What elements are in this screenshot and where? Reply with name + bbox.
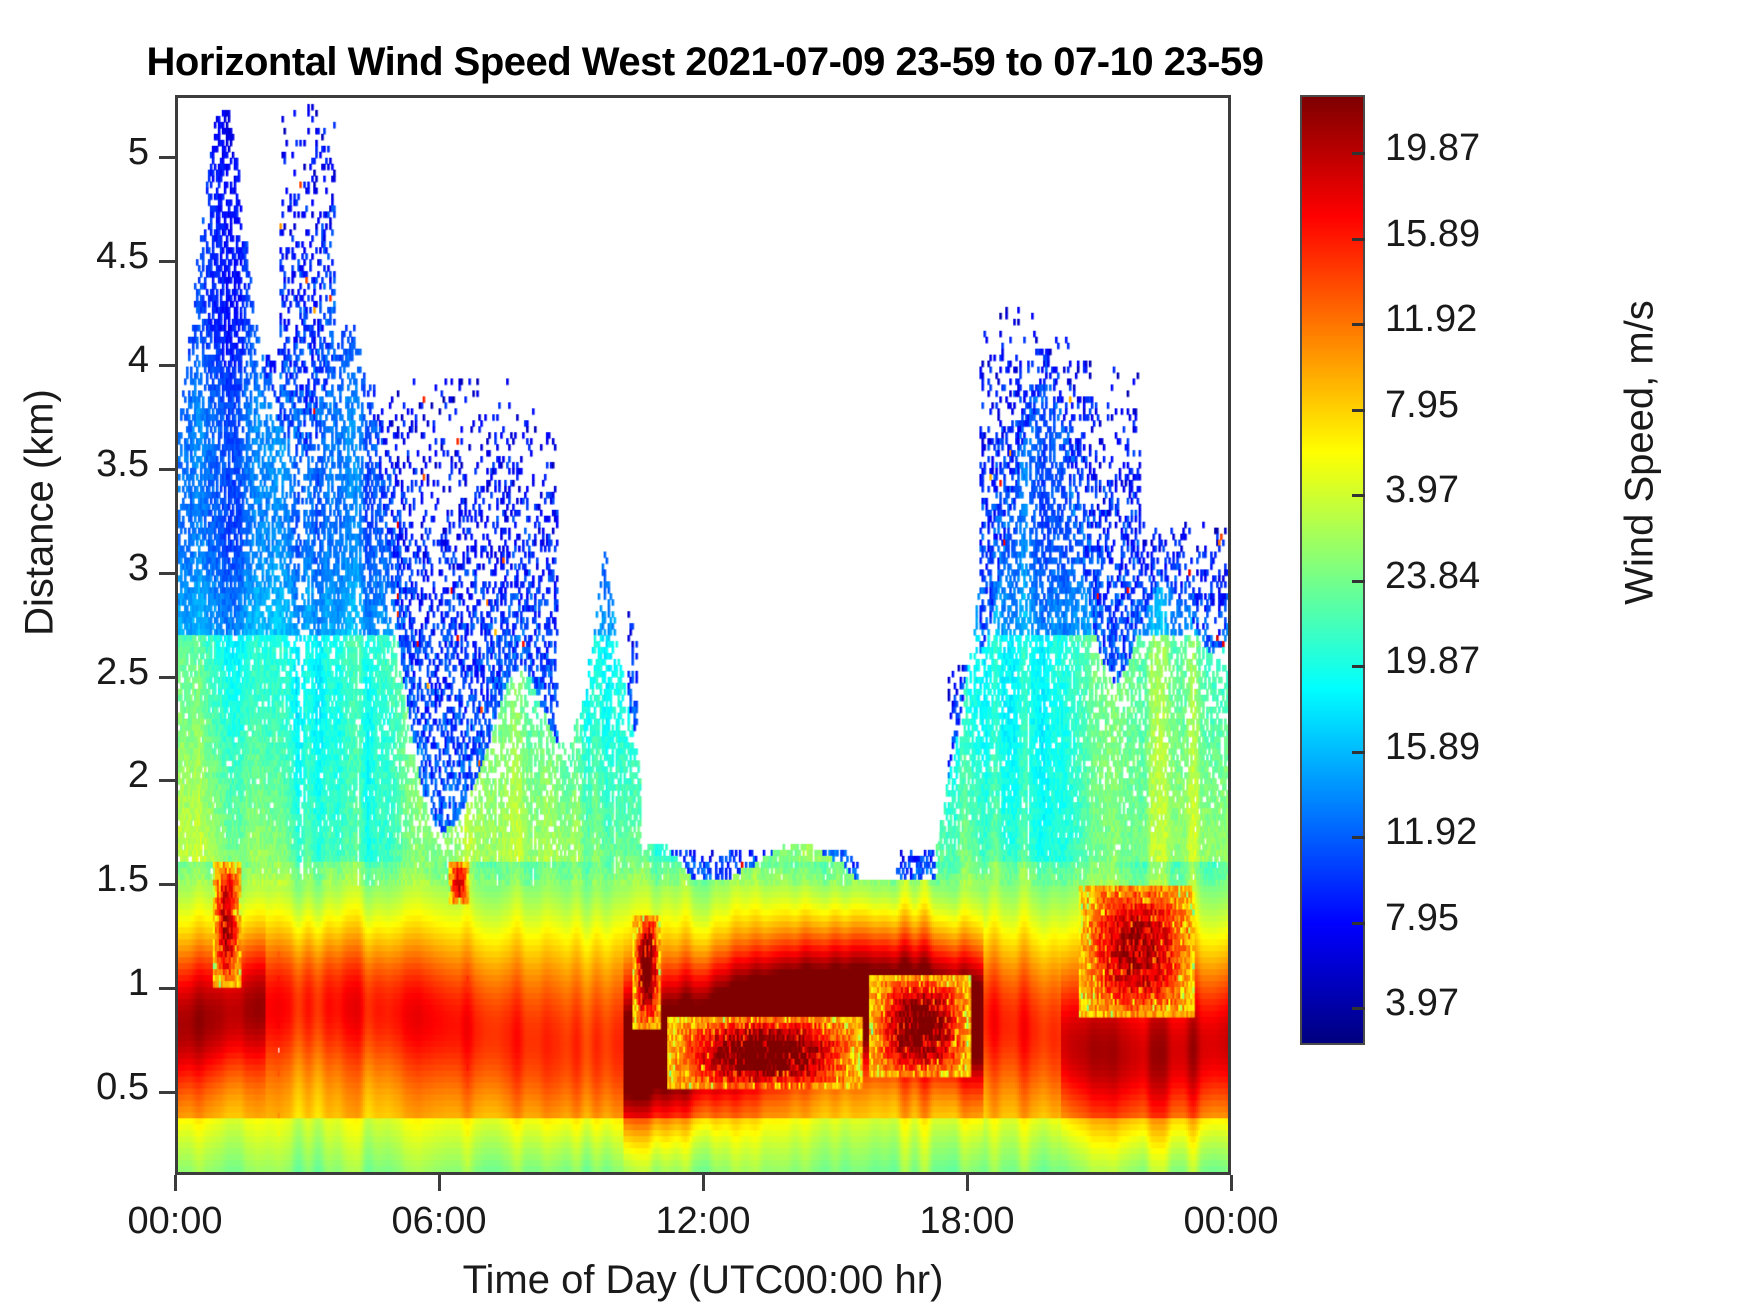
colorbar-tick-mark bbox=[1352, 1007, 1365, 1010]
colorbar-tick-label: 19.87 bbox=[1385, 127, 1480, 170]
x-axis-tick-label: 18:00 bbox=[877, 1200, 1057, 1243]
colorbar-label: Wind Speed, m/s bbox=[1618, 173, 1663, 733]
figure-canvas: Horizontal Wind Speed West 2021-07-09 23… bbox=[0, 0, 1750, 1313]
y-axis-tick-mark bbox=[159, 364, 175, 367]
y-axis-tick-mark bbox=[159, 676, 175, 679]
y-axis-tick-label: 1.5 bbox=[96, 858, 149, 901]
colorbar-tick-label: 15.89 bbox=[1385, 726, 1480, 769]
y-axis-tick-label: 3 bbox=[128, 547, 149, 590]
colorbar-tick-mark bbox=[1352, 409, 1365, 412]
y-axis-tick-label: 4.5 bbox=[96, 235, 149, 278]
y-axis-tick-mark bbox=[159, 883, 175, 886]
y-axis-tick-label: 4 bbox=[128, 339, 149, 382]
plot-area bbox=[175, 95, 1231, 1175]
y-axis-tick-label: 5 bbox=[128, 131, 149, 174]
wind-speed-heatmap bbox=[178, 98, 1228, 1172]
colorbar-tick-mark bbox=[1352, 751, 1365, 754]
y-axis-label: Distance (km) bbox=[18, 233, 63, 793]
x-axis-tick-mark bbox=[174, 1175, 177, 1191]
x-axis-tick-mark bbox=[966, 1175, 969, 1191]
colorbar-tick-label: 7.95 bbox=[1385, 384, 1459, 427]
colorbar-tick-label: 23.84 bbox=[1385, 555, 1480, 598]
y-axis-tick-mark bbox=[159, 987, 175, 990]
colorbar-tick-mark bbox=[1352, 836, 1365, 839]
y-axis-tick-mark bbox=[159, 1091, 175, 1094]
colorbar-tick-mark bbox=[1352, 152, 1365, 155]
x-axis-tick-label: 00:00 bbox=[85, 1200, 265, 1243]
x-axis-label: Time of Day (UTC00:00 hr) bbox=[175, 1258, 1231, 1303]
colorbar-tick-label: 3.97 bbox=[1385, 469, 1459, 512]
x-axis-tick-mark bbox=[1230, 1175, 1233, 1191]
y-axis-tick-label: 1 bbox=[128, 962, 149, 1005]
x-axis-tick-label: 06:00 bbox=[349, 1200, 529, 1243]
y-axis-tick-label: 2.5 bbox=[96, 651, 149, 694]
y-axis-tick-mark bbox=[159, 779, 175, 782]
colorbar-tick-label: 19.87 bbox=[1385, 640, 1480, 683]
y-axis-tick-mark bbox=[159, 260, 175, 263]
x-axis-tick-mark bbox=[702, 1175, 705, 1191]
page-title: Horizontal Wind Speed West 2021-07-09 23… bbox=[0, 40, 1410, 85]
colorbar-tick-mark bbox=[1352, 580, 1365, 583]
y-axis-tick-mark bbox=[159, 156, 175, 159]
colorbar-tick-label: 3.97 bbox=[1385, 982, 1459, 1025]
colorbar-tick-mark bbox=[1352, 922, 1365, 925]
y-axis-tick-label: 3.5 bbox=[96, 443, 149, 486]
y-axis-tick-mark bbox=[159, 468, 175, 471]
colorbar-tick-label: 11.92 bbox=[1385, 298, 1477, 341]
y-axis-tick-mark bbox=[159, 572, 175, 575]
x-axis-tick-label: 00:00 bbox=[1141, 1200, 1321, 1243]
colorbar-tick-mark bbox=[1352, 323, 1365, 326]
colorbar-tick-label: 15.89 bbox=[1385, 213, 1480, 256]
colorbar-tick-mark bbox=[1352, 494, 1365, 497]
y-axis-tick-label: 2 bbox=[128, 754, 149, 797]
colorbar-tick-mark bbox=[1352, 238, 1365, 241]
y-axis-tick-label: 0.5 bbox=[96, 1066, 149, 1109]
x-axis-tick-mark bbox=[438, 1175, 441, 1191]
x-axis-tick-label: 12:00 bbox=[613, 1200, 793, 1243]
colorbar-tick-label: 7.95 bbox=[1385, 897, 1459, 940]
colorbar-tick-label: 11.92 bbox=[1385, 811, 1477, 854]
colorbar-tick-mark bbox=[1352, 665, 1365, 668]
